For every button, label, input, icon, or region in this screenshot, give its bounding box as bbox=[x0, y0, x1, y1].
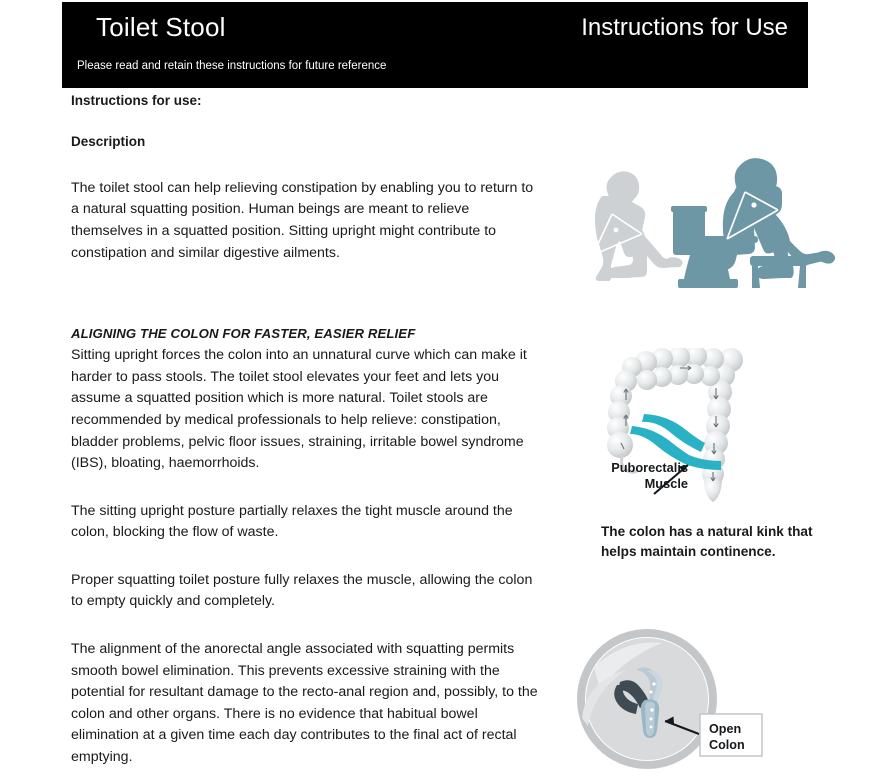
colon-kink-caption: The colon has a natural kink that helps … bbox=[601, 522, 841, 561]
instructions-for-use-heading: Instructions for use: bbox=[71, 92, 541, 111]
puborectalis-label-line1: Puborectalis bbox=[592, 460, 688, 476]
squatting-person-grey-figure bbox=[595, 171, 683, 281]
anorectal-angle-paragraph: The alignment of the anorectal angle ass… bbox=[71, 639, 541, 768]
document-header-band: Toilet Stool Instructions for Use Please… bbox=[62, 2, 808, 88]
posture-illustration bbox=[572, 152, 868, 292]
open-colon-diagram-svg bbox=[572, 622, 862, 782]
body-text-column: Instructions for use: Description The to… bbox=[71, 92, 541, 768]
squat-angle-dot bbox=[614, 228, 619, 233]
puborectalis-label-line2: Muscle bbox=[592, 476, 688, 492]
paragraph-spacer bbox=[71, 290, 541, 324]
instructions-for-use-page: Toilet Stool Instructions for Use Please… bbox=[0, 0, 870, 782]
rectum bbox=[704, 478, 722, 502]
sitting-posture-paragraph: The sitting upright posture partially re… bbox=[71, 501, 541, 544]
header-retention-note: Please read and retain these instruction… bbox=[77, 60, 386, 72]
colon-diagram: Puborectalis Muscle bbox=[592, 348, 868, 508]
puborectalis-label: Puborectalis Muscle bbox=[592, 460, 688, 492]
open-colon-label-line1: Open bbox=[709, 721, 765, 737]
header-right-title: Instructions for Use bbox=[581, 14, 788, 42]
aligning-colon-subheading: ALIGNING THE COLON FOR FASTER, EASIER RE… bbox=[71, 324, 541, 343]
squatting-posture-paragraph: Proper squatting toilet posture fully re… bbox=[71, 570, 541, 613]
posture-illustration-svg bbox=[572, 152, 868, 292]
description-heading: Description bbox=[71, 133, 541, 152]
seated-angle-dot bbox=[751, 202, 756, 207]
aligning-colon-paragraph: Sitting upright forces the colon into an… bbox=[71, 345, 541, 474]
description-paragraph: The toilet stool can help relieving cons… bbox=[71, 178, 541, 264]
open-colon-diagram: Open Colon bbox=[572, 622, 862, 782]
open-colon-label-line2: Colon bbox=[709, 737, 765, 753]
page-title: Toilet Stool bbox=[96, 12, 226, 43]
open-colon-label: Open Colon bbox=[709, 721, 765, 753]
